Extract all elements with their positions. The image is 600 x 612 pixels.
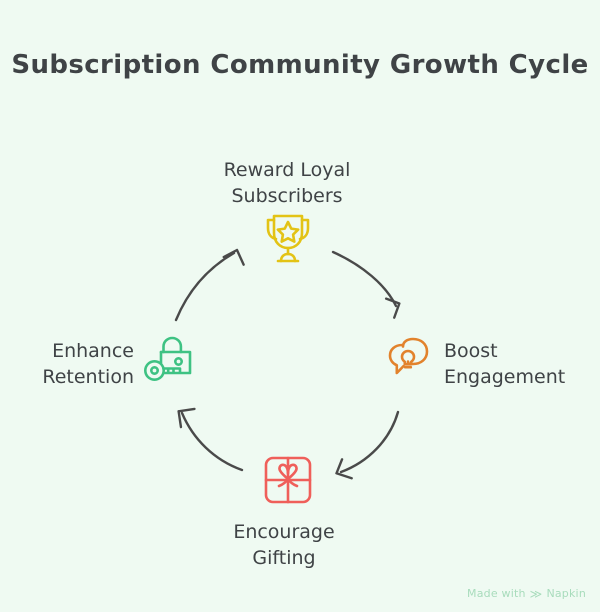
arrow-boost-to-gifting xyxy=(336,412,398,478)
trophy-icon xyxy=(259,209,317,267)
arrow-retention-to-reward xyxy=(176,250,245,320)
node-label-reward-loyal-subscribers: Reward Loyal Subscribers xyxy=(137,157,437,209)
gift-box-icon xyxy=(259,451,317,509)
node-label-encourage-gifting: Encourage Gifting xyxy=(134,519,434,571)
watermark-prefix: Made with xyxy=(467,587,526,600)
node-label-boost-engagement: Boost Engagement xyxy=(444,338,600,390)
node-label-enhance-retention: Enhance Retention xyxy=(0,338,134,390)
napkin-logo-icon: ≫ xyxy=(530,588,543,600)
arrow-gifting-to-retention xyxy=(178,408,242,470)
diagram-canvas: Subscription Community Growth Cycle Rewa… xyxy=(0,0,600,612)
arrow-reward-to-boost xyxy=(333,252,400,318)
napkin-watermark: Made with ≫ Napkin xyxy=(467,587,586,600)
lock-and-key-icon xyxy=(139,333,197,391)
watermark-brand: Napkin xyxy=(546,587,586,600)
speech-bubbles-lightbulb-icon xyxy=(379,333,437,391)
